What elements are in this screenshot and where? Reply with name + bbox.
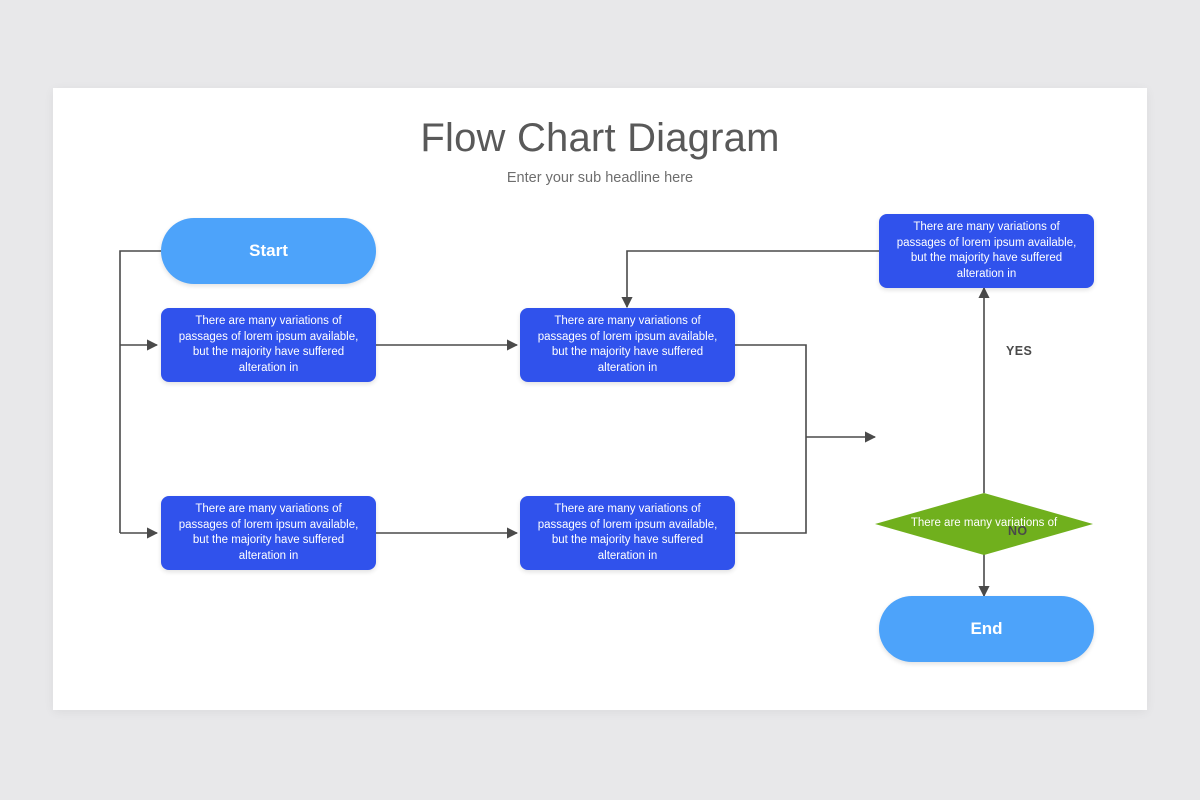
edge-process2-to-junction [732, 345, 806, 437]
node-start-label: Start [249, 241, 288, 261]
node-process-2[interactable]: There are many variations of passages of… [520, 308, 735, 382]
node-start[interactable]: Start [161, 218, 376, 284]
node-process-4-label: There are many variations of passages of… [530, 502, 725, 564]
node-process-2-label: There are many variations of passages of… [530, 314, 725, 376]
node-process-3[interactable]: There are many variations of passages of… [161, 496, 376, 570]
flowchart-canvas: Start There are many variations of passa… [53, 88, 1147, 710]
node-process-5[interactable]: There are many variations of passages of… [879, 214, 1094, 288]
node-decision-label: There are many variations of [875, 516, 1093, 532]
node-end[interactable]: End [879, 596, 1094, 662]
slide-card: Flow Chart Diagram Enter your sub headli… [53, 88, 1147, 710]
edge-start-trunk [120, 251, 161, 533]
node-decision[interactable]: There are many variations of [875, 493, 1093, 555]
node-process-5-label: There are many variations of passages of… [889, 220, 1084, 282]
node-end-label: End [970, 619, 1002, 639]
edge-process4-to-junction [732, 437, 806, 533]
node-process-1-label: There are many variations of passages of… [171, 314, 366, 376]
node-process-4[interactable]: There are many variations of passages of… [520, 496, 735, 570]
node-process-1[interactable]: There are many variations of passages of… [161, 308, 376, 382]
edge-process5-to-process2 [627, 251, 879, 307]
node-process-3-label: There are many variations of passages of… [171, 502, 366, 564]
edge-label-yes: YES [1006, 344, 1032, 358]
